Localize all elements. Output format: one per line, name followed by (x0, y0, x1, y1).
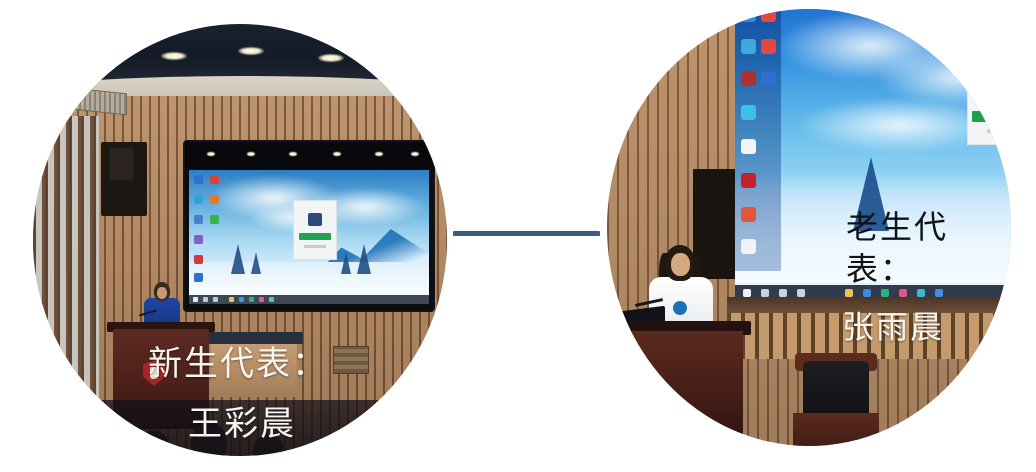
connector-line (453, 231, 600, 236)
side-desk-top (205, 332, 303, 344)
audience-foreground (33, 400, 447, 456)
audience-shoulder (77, 450, 123, 456)
desktop-icon[interactable] (741, 139, 756, 154)
desktop-icon (210, 175, 219, 184)
ceiling-light-icon (318, 54, 344, 62)
audience-head (191, 422, 227, 456)
search-icon[interactable] (203, 297, 208, 302)
wall-vent-icon (333, 346, 369, 374)
pine-tree-icon (853, 157, 889, 231)
taskbar[interactable] (189, 295, 429, 304)
spotlight-icon (411, 152, 419, 156)
desktop-icon[interactable] (741, 207, 756, 222)
app-icon[interactable] (935, 289, 943, 297)
explorer-icon[interactable] (229, 297, 234, 302)
pine-tree-icon (251, 252, 261, 274)
desktop-icon[interactable] (761, 9, 776, 22)
desktop-icon[interactable] (741, 173, 756, 188)
app-icon[interactable] (249, 297, 254, 302)
photo-circle-right (607, 9, 1011, 446)
widgets-icon[interactable] (797, 289, 805, 297)
desktop-icon (194, 175, 203, 184)
dialog-primary-button[interactable] (972, 111, 1011, 122)
display-top-light-bar (185, 142, 433, 170)
browser-icon[interactable] (863, 289, 871, 297)
audience-head (139, 430, 169, 456)
audience-head (253, 434, 285, 456)
explorer-icon[interactable] (845, 289, 853, 297)
dialog-window[interactable] (293, 200, 337, 260)
school-emblem-inner-icon (150, 367, 158, 379)
spotlight-icon (289, 152, 297, 156)
taskview-icon[interactable] (779, 289, 787, 297)
desktop-icon (194, 273, 203, 282)
app-icon[interactable] (881, 289, 889, 297)
desktop-icon (194, 235, 203, 244)
chair-base (793, 413, 879, 446)
app-icon[interactable] (899, 289, 907, 297)
ceiling-light-icon (238, 47, 264, 55)
app-icon[interactable] (259, 297, 264, 302)
app-icon[interactable] (269, 297, 274, 302)
desktop-icon-column (192, 173, 228, 285)
desktop-icon[interactable] (741, 239, 756, 254)
ceiling-light-icon (161, 52, 187, 60)
dialog-logo-icon (1003, 83, 1011, 103)
spotlight-icon (375, 152, 383, 156)
dialog-logo-icon (308, 213, 322, 226)
desktop-icon (194, 255, 203, 264)
browser-icon[interactable] (239, 297, 244, 302)
dialog-primary-button[interactable] (299, 233, 331, 240)
auditorium-scene-right (607, 9, 1011, 446)
spotlight-icon (207, 152, 215, 156)
desktop-icon-column (735, 9, 781, 271)
auditorium-scene-left (33, 24, 447, 456)
app-icon[interactable] (917, 289, 925, 297)
desktop-icon[interactable] (741, 9, 756, 22)
dialog-secondary-text (987, 129, 1011, 133)
desktop-icon[interactable] (761, 71, 776, 86)
speaker-face (157, 287, 167, 299)
speaker-box-icon (109, 148, 133, 180)
pine-tree-icon (357, 244, 371, 274)
podium (607, 331, 743, 446)
desktop-icon (194, 215, 203, 224)
taskview-icon[interactable] (213, 297, 218, 302)
desktop-icon[interactable] (741, 39, 756, 54)
dialog-secondary-text (304, 245, 326, 248)
desktop-icon[interactable] (741, 105, 756, 120)
side-desk (211, 339, 297, 397)
pine-tree-icon (341, 252, 351, 274)
desktop-icon (194, 195, 203, 204)
spotlight-icon (247, 152, 255, 156)
display-screen (735, 9, 1011, 301)
spotlight-icon (333, 152, 341, 156)
collage-canvas: 新生代表： 王彩晨 老生代 表： 张雨晨 (0, 0, 1036, 472)
stage-ledge (727, 297, 1011, 313)
chair-back (803, 361, 869, 421)
start-icon[interactable] (193, 297, 198, 302)
desktop-icon (210, 215, 219, 224)
speaker-face (671, 253, 690, 276)
desktop-icon[interactable] (741, 71, 756, 86)
pine-tree-icon (231, 244, 245, 274)
start-icon[interactable] (743, 289, 751, 297)
photo-circle-left (33, 24, 447, 456)
shirt-logo-icon (673, 301, 687, 315)
desktop-icon[interactable] (761, 39, 776, 54)
desktop-icon (210, 195, 219, 204)
search-icon[interactable] (761, 289, 769, 297)
display-screen (189, 170, 429, 304)
side-louver-panel (33, 116, 99, 416)
